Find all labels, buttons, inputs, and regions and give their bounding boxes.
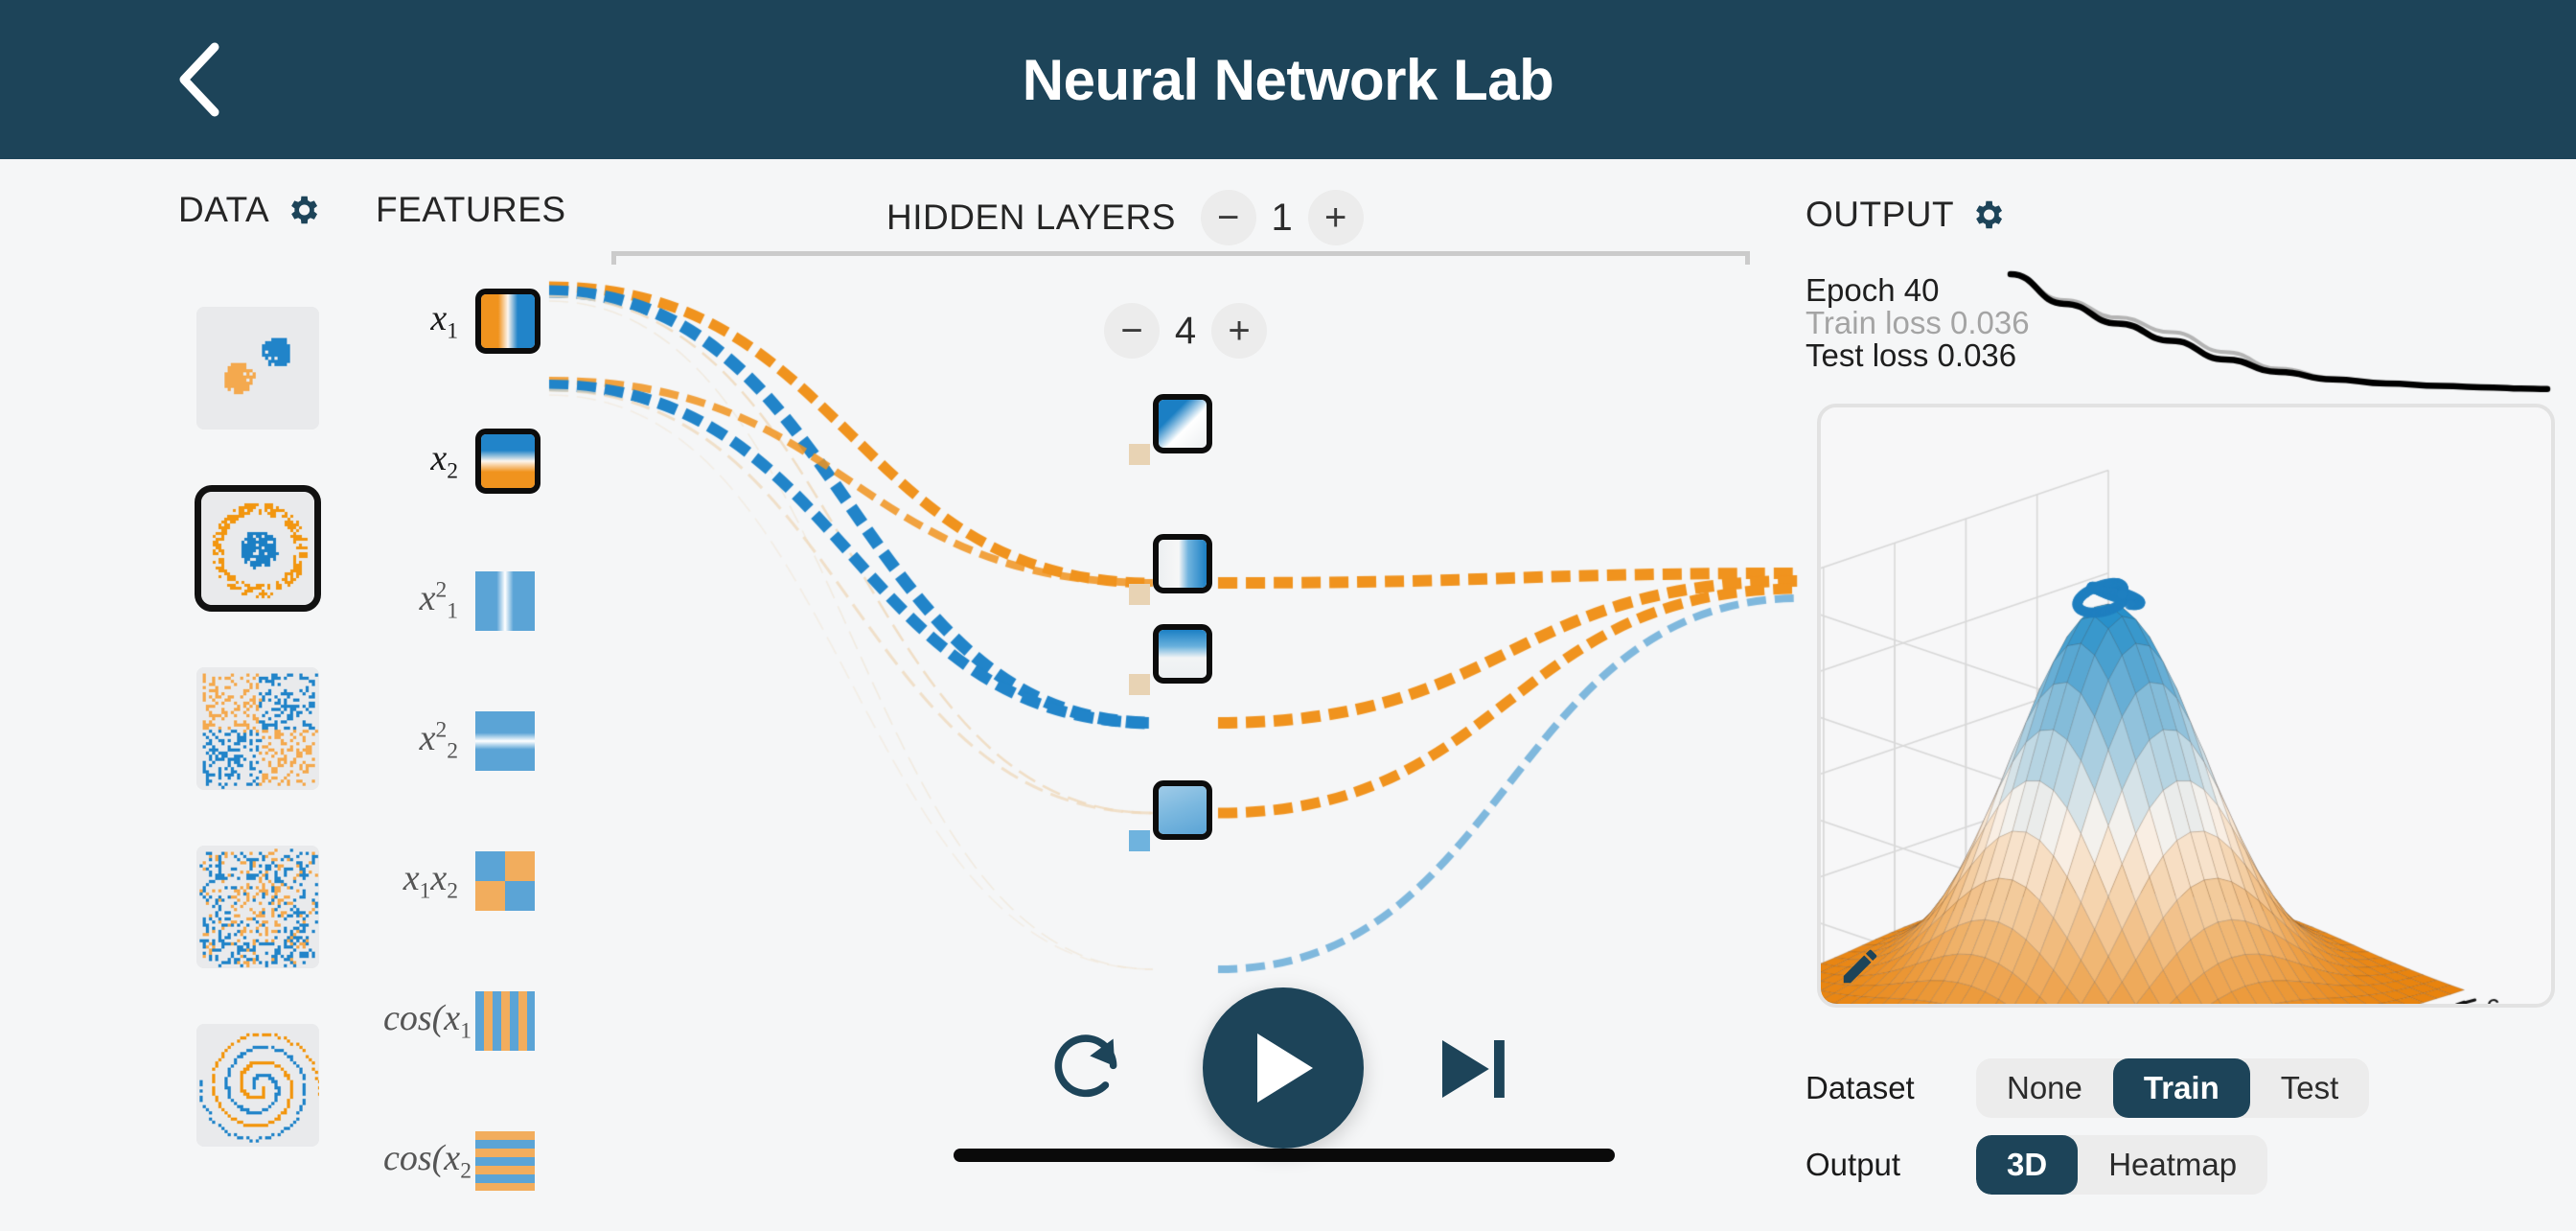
output-toggle-group: 3DHeatmap: [1976, 1135, 2267, 1195]
page-title: Neural Network Lab: [0, 0, 2576, 159]
dataset-option-none[interactable]: None: [1976, 1058, 2113, 1118]
output-toggle-row: Output 3DHeatmap: [1805, 1135, 2267, 1195]
epoch-label: Epoch 40: [1805, 274, 2030, 307]
neuron-bias-indicator-2[interactable]: [1129, 584, 1150, 605]
hidden-neuron-4[interactable]: [1153, 780, 1212, 840]
output-panel: Epoch 40 Train loss 0.036 Test loss 0.03…: [1802, 159, 2576, 1191]
step-forward-icon[interactable]: [1428, 1026, 1514, 1112]
neuron-activation-map: [1159, 786, 1207, 834]
dataset-toggle-group: NoneTrainTest: [1976, 1058, 2369, 1118]
output-option-heatmap[interactable]: Heatmap: [2078, 1135, 2267, 1195]
dataset-toggle-label: Dataset: [1805, 1070, 1949, 1106]
neuron-bias-indicator-3[interactable]: [1129, 674, 1150, 695]
output-toggle-label: Output: [1805, 1147, 1949, 1183]
pencil-icon[interactable]: [1838, 944, 1882, 988]
hidden-neuron-1[interactable]: [1153, 394, 1212, 453]
loss-curve-chart: [2003, 250, 2576, 404]
playback-controls: [1045, 987, 1437, 1160]
reset-icon[interactable]: [1045, 1028, 1127, 1110]
dataset-option-train[interactable]: Train: [2113, 1058, 2250, 1118]
loss-readout: Epoch 40 Train loss 0.036 Test loss 0.03…: [1805, 274, 2030, 372]
neuron-bias-indicator-4[interactable]: [1129, 830, 1150, 851]
dataset-option-test[interactable]: Test: [2250, 1058, 2370, 1118]
train-loss-label: Train loss 0.036: [1805, 307, 2030, 339]
hidden-neuron-2[interactable]: [1153, 534, 1212, 593]
play-icon: [1248, 1028, 1319, 1108]
neuron-activation-map: [1159, 540, 1207, 588]
hidden-layer-bracket: [611, 251, 1750, 265]
output-option-3d[interactable]: 3D: [1976, 1135, 2078, 1195]
neuron-activation-map: [1159, 630, 1207, 678]
neuron-bias-indicator-1[interactable]: [1129, 444, 1150, 465]
network-edges-canvas: [0, 159, 1802, 1191]
neuron-activation-map: [1159, 400, 1207, 448]
dataset-toggle-row: Dataset NoneTrainTest: [1805, 1058, 2369, 1118]
play-button[interactable]: [1203, 987, 1364, 1149]
output-surface-card[interactable]: [1817, 404, 2555, 1008]
app-header: Neural Network Lab: [0, 0, 2576, 159]
test-loss-label: Test loss 0.036: [1805, 339, 2030, 372]
hidden-neuron-3[interactable]: [1153, 624, 1212, 684]
home-indicator: [954, 1149, 1615, 1162]
surface-3d-plot[interactable]: [1821, 407, 2551, 1004]
